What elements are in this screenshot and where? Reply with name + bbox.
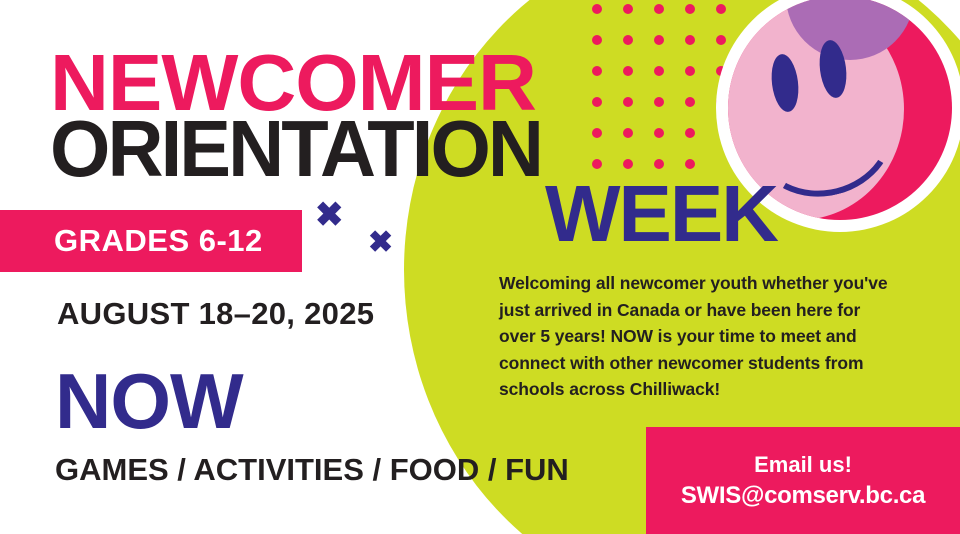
grid-dot (654, 128, 664, 138)
grid-dot (592, 128, 602, 138)
grid-dot (685, 35, 695, 45)
headline-block: NEWCOMER ORIENTATION (50, 50, 556, 181)
grid-dot (654, 35, 664, 45)
grades-badge-label: GRADES 6-12 (54, 223, 263, 259)
grid-dot (654, 66, 664, 76)
grid-dot (685, 128, 695, 138)
grades-badge: GRADES 6-12 (0, 210, 302, 272)
grid-dot (592, 159, 602, 169)
acronym-items-list: GAMES / ACTIVITIES / FOOD / FUN (55, 452, 569, 488)
contact-email[interactable]: SWIS@comserv.bc.ca (681, 480, 925, 511)
grid-dot (654, 159, 664, 169)
headline-orientation: ORIENTATION (50, 116, 541, 182)
x-mark-icon: ✖ (315, 198, 344, 232)
contact-box[interactable]: Email us! SWIS@comserv.bc.ca (646, 427, 960, 534)
acronym-now: NOW (55, 366, 243, 436)
grid-dot (623, 66, 633, 76)
grid-dot (654, 97, 664, 107)
grid-dot (685, 4, 695, 14)
contact-label: Email us! (754, 450, 852, 480)
x-mark-icon: ✖ (368, 228, 393, 258)
grid-dot (592, 66, 602, 76)
grid-dot (685, 159, 695, 169)
grid-dot (623, 159, 633, 169)
event-date: AUGUST 18–20, 2025 (57, 296, 374, 332)
body-paragraph: Welcoming all newcomer youth whether you… (499, 270, 899, 403)
grid-dot (685, 97, 695, 107)
grid-dot (623, 4, 633, 14)
grid-dot (623, 35, 633, 45)
grid-dot (592, 97, 602, 107)
grid-dot (623, 128, 633, 138)
poster-canvas: NEWCOMER ORIENTATION WEEK ✖ ✖ GRADES 6-1… (0, 0, 960, 534)
grid-dot (592, 35, 602, 45)
grid-dot (685, 66, 695, 76)
grid-dot (592, 4, 602, 14)
headline-week: WEEK (545, 178, 777, 250)
grid-dot (654, 4, 664, 14)
grid-dot (623, 97, 633, 107)
